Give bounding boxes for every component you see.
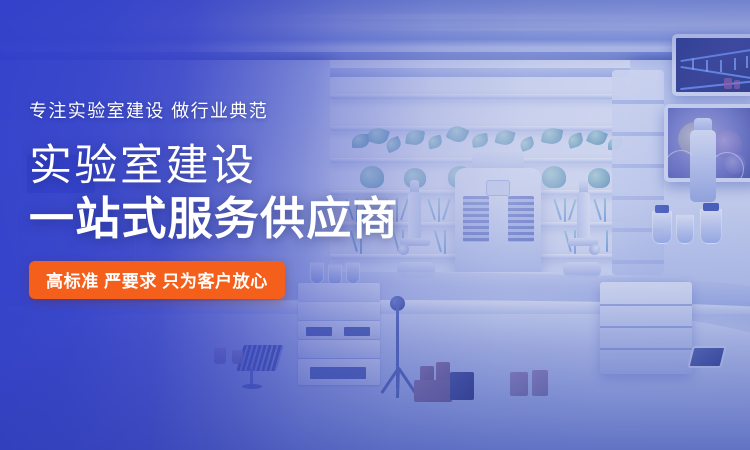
glass-flask-a: [652, 210, 672, 244]
hero-slogan-badge[interactable]: 高标准 严要求 只为客户放心: [29, 261, 285, 299]
dna-display-monitor: [672, 34, 750, 96]
hero-copy-block: 专注实验室建设 做行业典范 实验室建设 一站式服务供应商 高标准 严要求 只为客…: [29, 100, 449, 299]
right-shelf-rack: [612, 70, 664, 275]
glass-flask-c: [700, 208, 722, 244]
hero-headline-primary: 实验室建设: [29, 145, 449, 189]
sample-tray: [236, 345, 283, 371]
right-equipment-box: [600, 282, 692, 374]
tablet-device: [687, 346, 726, 368]
tube-rack-left: [463, 196, 489, 242]
glass-flask-b: [676, 214, 694, 244]
instrument-display: [486, 180, 510, 196]
tube-rack-right: [508, 196, 534, 242]
lab-hero-banner: 专注实验室建设 做行业典范 实验室建设 一站式服务供应商 高标准 严要求 只为客…: [0, 0, 750, 450]
hero-tagline: 专注实验室建设 做行业典范: [29, 100, 449, 123]
hero-headline-secondary: 一站式服务供应商: [29, 196, 449, 242]
dark-case: [450, 372, 474, 400]
microscope-right: [562, 188, 602, 280]
